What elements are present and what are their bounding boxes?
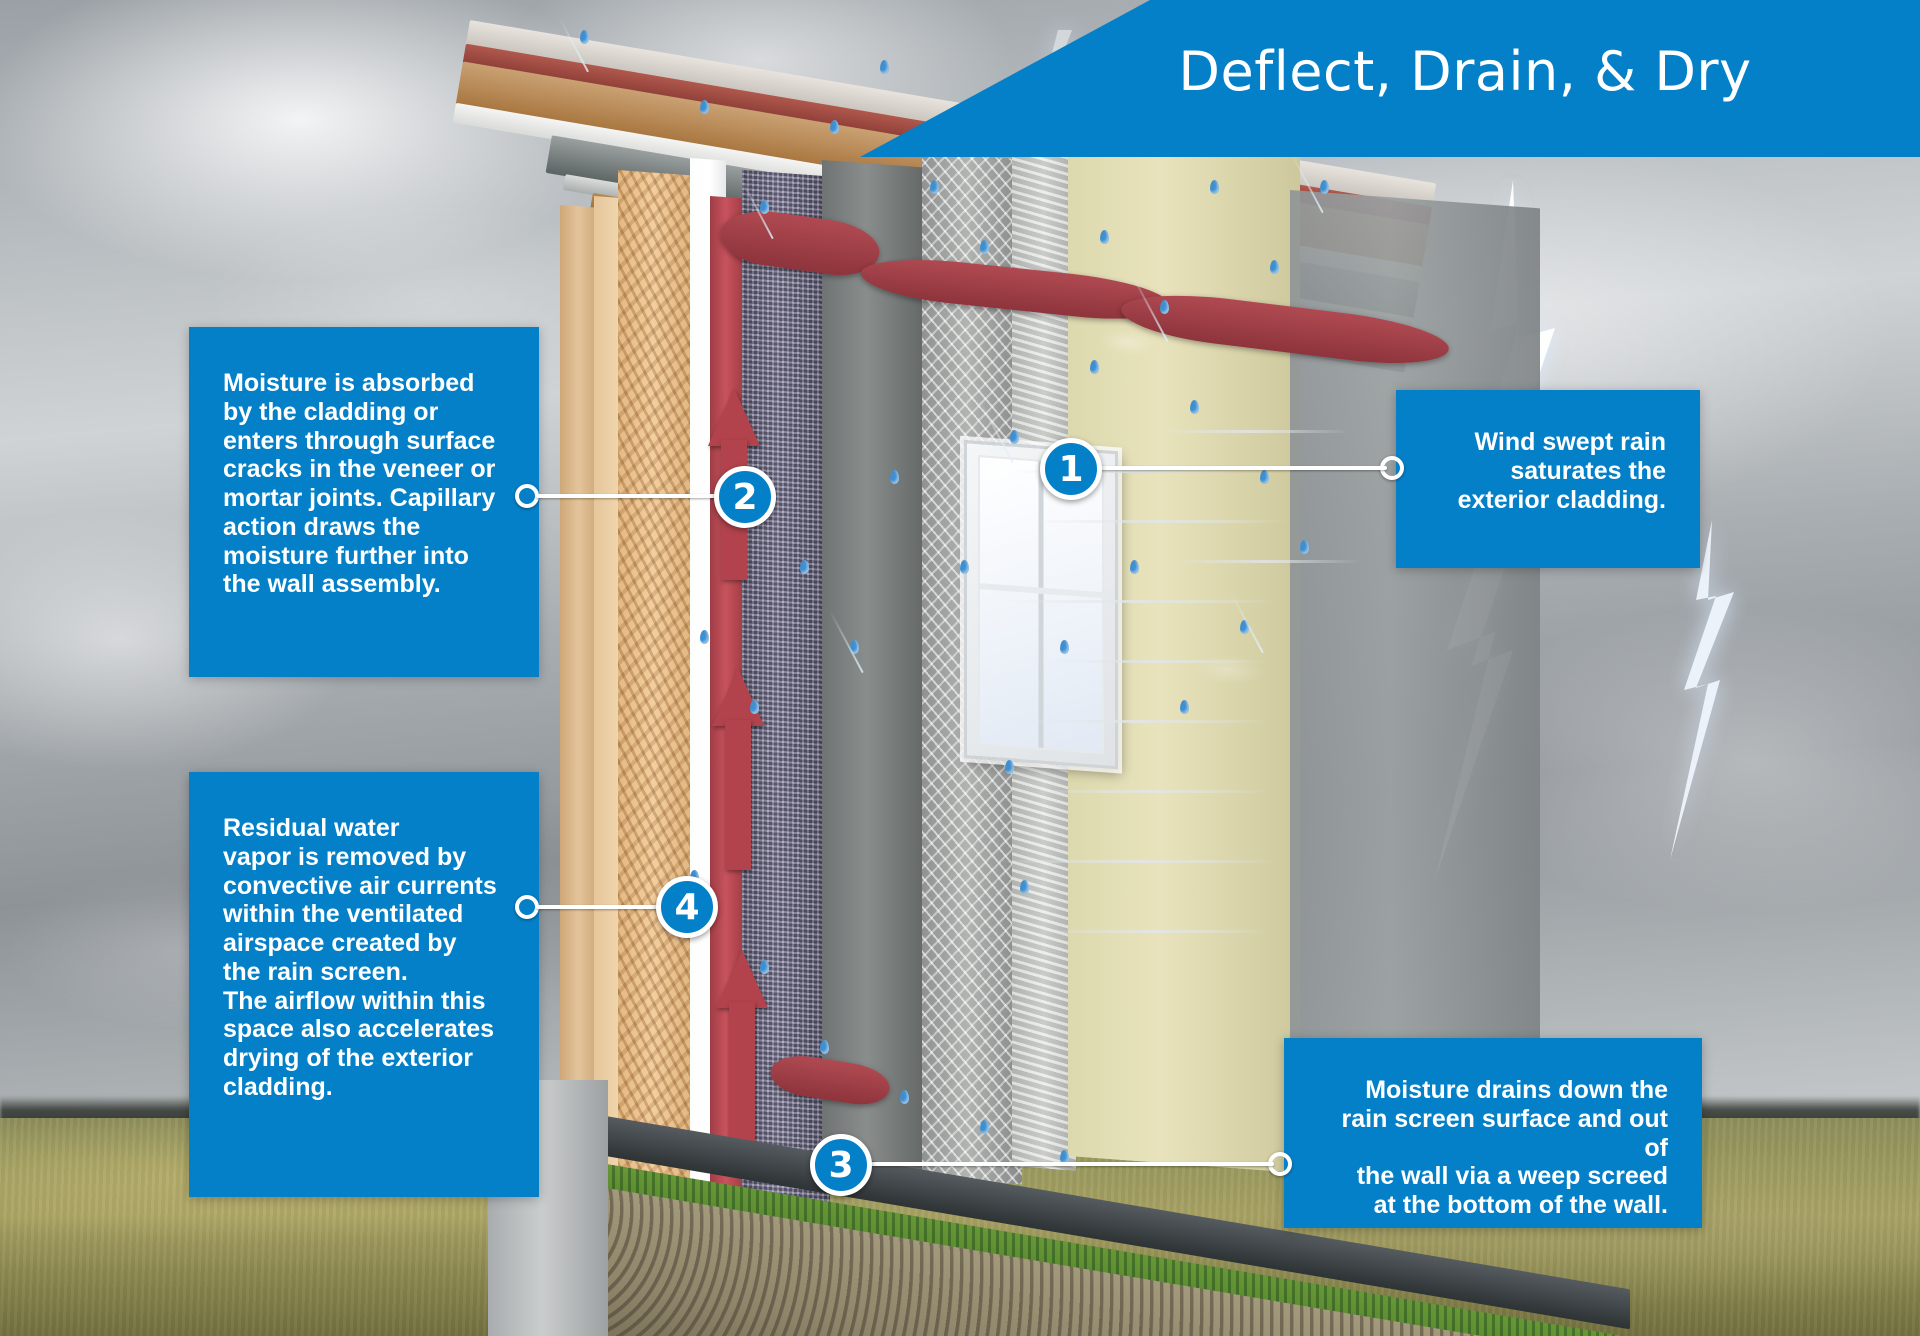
step-number-1: 1 xyxy=(1040,438,1102,500)
callout-box-3[interactable]: Moisture drains down the rain screen sur… xyxy=(1284,1038,1702,1228)
callout-2-leader-line xyxy=(536,494,726,498)
callout-2-text: Moisture is absorbed by the cladding or … xyxy=(223,369,509,599)
airflow-arrow-stem-3 xyxy=(729,1002,755,1142)
callout-4-leader-line xyxy=(536,905,666,909)
window-glass xyxy=(978,455,1104,754)
callout-4-text: Residual water vapor is removed by conve… xyxy=(223,814,509,1102)
callout-box-2[interactable]: Moisture is absorbed by the cladding or … xyxy=(189,327,539,677)
callout-1-leader-line xyxy=(1095,466,1387,470)
airflow-arrow-head-1 xyxy=(708,388,760,446)
building-paper-layer xyxy=(822,160,932,1198)
osb-sheathing-layer xyxy=(618,170,696,1211)
airflow-arrow-head-3 xyxy=(716,950,768,1008)
callout-box-4[interactable]: Residual water vapor is removed by conve… xyxy=(189,772,539,1197)
callout-3-leader-line xyxy=(870,1162,1274,1166)
infographic-canvas: Deflect, Drain, & Dry Moisture is absorb… xyxy=(0,0,1920,1336)
callout-1-text: Wind swept rain saturates the exterior c… xyxy=(1426,428,1666,514)
airflow-arrow-stem-2 xyxy=(725,720,751,870)
callout-box-1[interactable]: Wind swept rain saturates the exterior c… xyxy=(1396,390,1700,568)
callout-3-text: Moisture drains down the rain screen sur… xyxy=(1314,1076,1668,1220)
airflow-arrow-head-2 xyxy=(712,668,764,726)
window-mullion-vertical xyxy=(1039,461,1044,747)
step-number-3: 3 xyxy=(810,1134,872,1196)
step-number-2: 2 xyxy=(714,466,776,528)
page-title: Deflect, Drain, & Dry xyxy=(1178,40,1751,103)
step-number-4: 4 xyxy=(656,876,718,938)
